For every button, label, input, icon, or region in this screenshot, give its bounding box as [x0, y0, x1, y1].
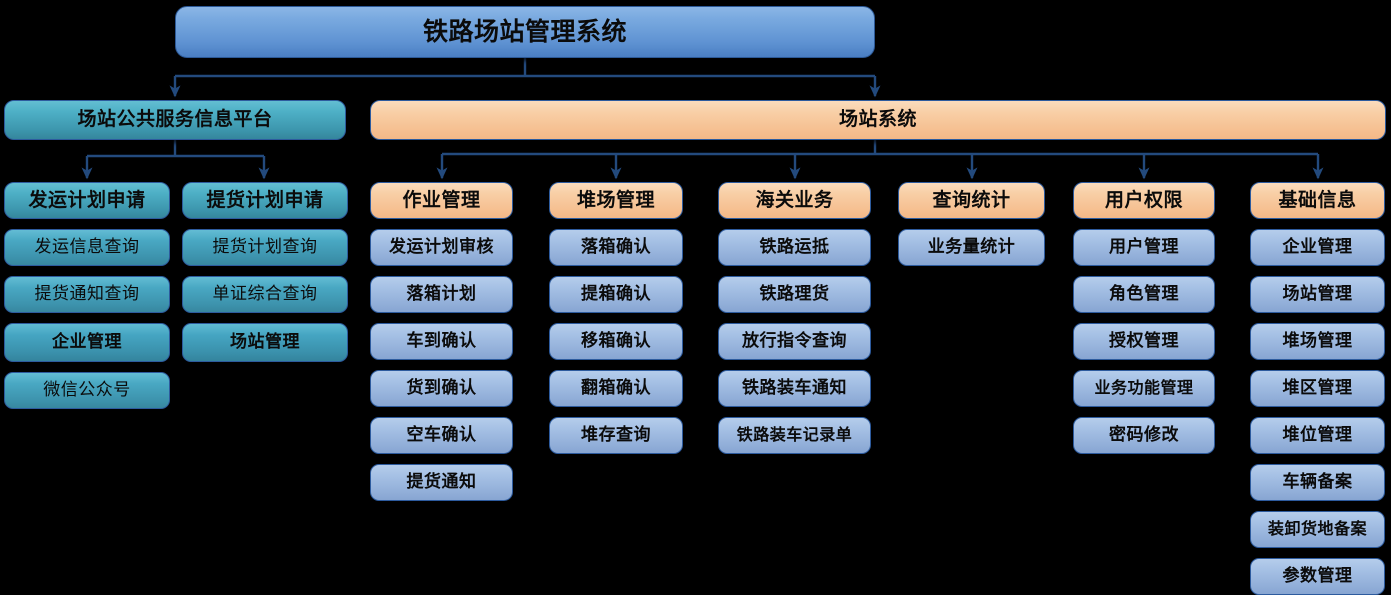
- list-item-label: 落箱计划: [407, 286, 477, 304]
- list-item-shipping-info-query[interactable]: 发运信息查询: [4, 229, 170, 266]
- list-item-empty-vehicle-confirm[interactable]: 空车确认: [370, 417, 513, 454]
- root-node[interactable]: 铁路场站管理系统: [175, 6, 875, 58]
- list-item-role-management[interactable]: 角色管理: [1073, 276, 1215, 313]
- column-header-shipping[interactable]: 发运计划申请: [4, 182, 170, 219]
- list-item-label: 铁路理货: [760, 286, 830, 304]
- list-item-enterprise-management-basic[interactable]: 企业管理: [1250, 229, 1385, 266]
- list-item-label: 放行指令查询: [742, 333, 847, 351]
- list-item-rail-tally[interactable]: 铁路理货: [718, 276, 871, 313]
- list-item-vehicle-arrival-confirm[interactable]: 车到确认: [370, 323, 513, 360]
- list-item-label: 铁路装车记录单: [737, 427, 853, 444]
- list-item-label: 堆区管理: [1283, 380, 1353, 398]
- list-item-rail-arrival[interactable]: 铁路运抵: [718, 229, 871, 266]
- list-item-label: 空车确认: [407, 427, 477, 445]
- list-item-label: 业务量统计: [928, 239, 1016, 257]
- list-item-rail-loading-record[interactable]: 铁路装车记录单: [718, 417, 871, 454]
- list-item-user-management[interactable]: 用户管理: [1073, 229, 1215, 266]
- column-header-label: 基础信息: [1278, 191, 1356, 211]
- list-item-label: 车到确认: [407, 333, 477, 351]
- list-item-label: 业务功能管理: [1094, 380, 1193, 397]
- list-item-yard-block-management[interactable]: 堆区管理: [1250, 370, 1385, 407]
- list-item-vehicle-registration[interactable]: 车辆备案: [1250, 464, 1385, 501]
- list-item-release-order-query[interactable]: 放行指令查询: [718, 323, 871, 360]
- list-item-label: 企业管理: [1283, 239, 1353, 257]
- list-item-label: 堆场管理: [1283, 333, 1353, 351]
- list-item-label: 翻箱确认: [581, 380, 651, 398]
- list-item-label: 提箱确认: [581, 286, 651, 304]
- list-item-label: 用户管理: [1109, 239, 1179, 257]
- list-item-label: 场站管理: [230, 334, 300, 352]
- list-item-password-change[interactable]: 密码修改: [1073, 417, 1215, 454]
- column-header-label: 查询统计: [932, 191, 1010, 211]
- list-item-business-function-management[interactable]: 业务功能管理: [1073, 370, 1215, 407]
- list-item-yard-management-basic[interactable]: 堆场管理: [1250, 323, 1385, 360]
- column-header-label: 发运计划申请: [28, 191, 145, 211]
- list-item-label: 堆存查询: [581, 427, 651, 445]
- list-item-parameter-management[interactable]: 参数管理: [1250, 558, 1385, 595]
- list-item-label: 企业管理: [52, 334, 122, 352]
- column-header-label: 海关业务: [755, 191, 833, 211]
- list-item-cargo-arrival-confirm[interactable]: 货到确认: [370, 370, 513, 407]
- list-item-label: 微信公众号: [43, 382, 131, 400]
- list-item-container-drop-plan[interactable]: 落箱计划: [370, 276, 513, 313]
- list-item-label: 场站管理: [1283, 286, 1353, 304]
- column-header-label: 作业管理: [402, 191, 480, 211]
- list-item-business-volume-statistics[interactable]: 业务量统计: [898, 229, 1045, 266]
- list-item-rail-loading-notice[interactable]: 铁路装车通知: [718, 370, 871, 407]
- list-item-pickup-notice-query[interactable]: 提货通知查询: [4, 276, 170, 313]
- list-item-container-lift-confirm[interactable]: 提箱确认: [549, 276, 683, 313]
- list-item-storage-query[interactable]: 堆存查询: [549, 417, 683, 454]
- list-item-yard-slot-management[interactable]: 堆位管理: [1250, 417, 1385, 454]
- list-item-label: 单证综合查询: [213, 286, 318, 304]
- list-item-label: 密码修改: [1109, 427, 1179, 445]
- list-item-container-shift-confirm[interactable]: 翻箱确认: [549, 370, 683, 407]
- list-item-loading-unloading-site-registration[interactable]: 装卸货地备案: [1250, 511, 1385, 548]
- column-header-yard[interactable]: 堆场管理: [549, 182, 683, 219]
- list-item-wechat-official-account[interactable]: 微信公众号: [4, 372, 170, 409]
- column-header-pickup[interactable]: 提货计划申请: [182, 182, 348, 219]
- list-item-label: 发运计划审核: [389, 239, 494, 257]
- column-header-label: 堆场管理: [577, 191, 655, 211]
- list-item-label: 发运信息查询: [35, 239, 140, 257]
- list-item-label: 提货计划查询: [213, 239, 318, 257]
- list-item-pickup-plan-query[interactable]: 提货计划查询: [182, 229, 348, 266]
- list-item-label: 铁路运抵: [760, 239, 830, 257]
- list-item-label: 提货通知查询: [35, 286, 140, 304]
- list-item-label: 参数管理: [1283, 568, 1353, 586]
- column-header-label: 用户权限: [1105, 191, 1183, 211]
- branch-yard-system[interactable]: 场站系统: [370, 100, 1386, 140]
- list-item-label: 授权管理: [1109, 333, 1179, 351]
- list-item-label: 落箱确认: [581, 239, 651, 257]
- list-item-enterprise-management[interactable]: 企业管理: [4, 323, 170, 362]
- branch-label: 场站公共服务信息平台: [77, 110, 272, 130]
- list-item-label: 堆位管理: [1283, 427, 1353, 445]
- list-item-shipping-plan-review[interactable]: 发运计划审核: [370, 229, 513, 266]
- root-label: 铁路场站管理系统: [423, 19, 627, 45]
- column-header-operation[interactable]: 作业管理: [370, 182, 513, 219]
- branch-label: 场站系统: [839, 110, 917, 130]
- column-header-permissions[interactable]: 用户权限: [1073, 182, 1215, 219]
- list-item-label: 装卸货地备案: [1268, 521, 1367, 538]
- list-item-pickup-notice[interactable]: 提货通知: [370, 464, 513, 501]
- branch-public-service-platform[interactable]: 场站公共服务信息平台: [4, 100, 346, 140]
- list-item-station-management[interactable]: 场站管理: [1250, 276, 1385, 313]
- list-item-label: 铁路装车通知: [742, 380, 847, 398]
- list-item-label: 车辆备案: [1283, 474, 1353, 492]
- column-header-statistics[interactable]: 查询统计: [898, 182, 1045, 219]
- list-item-label: 角色管理: [1109, 286, 1179, 304]
- list-item-label: 提货通知: [407, 474, 477, 492]
- list-item-authorization-management[interactable]: 授权管理: [1073, 323, 1215, 360]
- list-item-container-drop-confirm[interactable]: 落箱确认: [549, 229, 683, 266]
- list-item-container-move-confirm[interactable]: 移箱确认: [549, 323, 683, 360]
- diagram-canvas: 铁路场站管理系统 场站公共服务信息平台 场站系统 发运计划申请 发运信息查询 提…: [0, 0, 1391, 595]
- column-header-label: 提货计划申请: [206, 191, 323, 211]
- list-item-label: 货到确认: [407, 380, 477, 398]
- list-item-label: 移箱确认: [581, 333, 651, 351]
- list-item-yard-management-left[interactable]: 场站管理: [182, 323, 348, 362]
- list-item-document-comprehensive-query[interactable]: 单证综合查询: [182, 276, 348, 313]
- column-header-customs[interactable]: 海关业务: [718, 182, 871, 219]
- column-header-basic-info[interactable]: 基础信息: [1250, 182, 1385, 219]
